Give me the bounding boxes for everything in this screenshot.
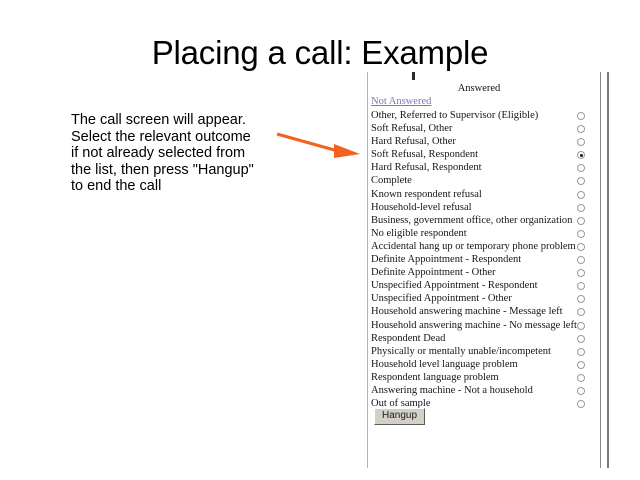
outcome-radio-button[interactable] [577, 204, 585, 212]
window-top-tick [412, 72, 415, 80]
outcome-radio-button[interactable] [577, 282, 585, 290]
outcome-radio-button[interactable] [577, 112, 585, 120]
call-outcome-screen: Answered Not Answered Other, Referred to… [367, 72, 601, 468]
outcome-row[interactable]: Unspecified Appointment - Other [368, 292, 600, 305]
outcome-row[interactable]: Business, government office, other organ… [368, 214, 600, 227]
outcome-radio-button[interactable] [577, 243, 585, 251]
outcome-label: Definite Appointment - Respondent [371, 253, 521, 266]
outcome-radio-button[interactable] [577, 374, 585, 382]
caption-line: the list, then press "Hangup" [71, 162, 281, 179]
outcome-row[interactable]: Definite Appointment - Respondent [368, 253, 600, 266]
outcome-label: Complete [371, 174, 412, 187]
outcome-row[interactable]: Household answering machine - Message le… [368, 305, 600, 318]
outcome-row[interactable]: No eligible respondent [368, 227, 600, 240]
outcome-label: Hard Refusal, Respondent [371, 161, 482, 174]
outcome-radio-button[interactable] [577, 295, 585, 303]
window-edge-divider [607, 72, 609, 468]
outcome-radio-button[interactable] [577, 230, 585, 238]
outcome-label: No eligible respondent [371, 227, 467, 240]
outcome-row[interactable]: Definite Appointment - Other [368, 266, 600, 279]
outcome-label: Respondent language problem [371, 371, 499, 384]
outcome-label: Definite Appointment - Other [371, 266, 496, 279]
page-title: Placing a call: Example [0, 36, 640, 71]
outcome-label: Answering machine - Not a household [371, 384, 533, 397]
outcome-radio-button[interactable] [577, 387, 585, 395]
outcome-label: Unspecified Appointment - Other [371, 292, 512, 305]
caption-line: The call screen will appear. [71, 112, 281, 129]
answered-section-heading: Answered [368, 83, 590, 94]
outcome-label: Household answering machine - Message le… [371, 305, 563, 318]
outcome-radio-button[interactable] [577, 308, 585, 316]
outcome-label: Accidental hang up or temporary phone pr… [371, 240, 576, 253]
caption-line: Select the relevant outcome [71, 129, 281, 146]
caption-line: to end the call [71, 178, 281, 195]
outcome-row[interactable]: Soft Refusal, Other [368, 122, 600, 135]
outcome-label: Household level language problem [371, 358, 518, 371]
outcome-row[interactable]: Household answering machine - No message… [368, 319, 600, 332]
outcome-radio-button[interactable] [577, 256, 585, 264]
outcome-row[interactable]: Hard Refusal, Respondent [368, 161, 600, 174]
outcome-row[interactable]: Answering machine - Not a household [368, 384, 600, 397]
outcome-label: Household answering machine - No message… [371, 319, 577, 332]
outcome-row[interactable]: Accidental hang up or temporary phone pr… [368, 240, 600, 253]
outcome-radio-button[interactable] [577, 400, 585, 408]
outcome-label: Business, government office, other organ… [371, 214, 572, 227]
outcome-row[interactable]: Household-level refusal [368, 201, 600, 214]
outcome-row[interactable]: Physically or mentally unable/incompeten… [368, 345, 600, 358]
outcome-radio-button[interactable] [577, 269, 585, 277]
outcome-row[interactable]: Other, Referred to Supervisor (Eligible) [368, 109, 600, 122]
outcome-radio-list[interactable]: Other, Referred to Supervisor (Eligible)… [368, 109, 600, 410]
outcome-row[interactable]: Complete [368, 174, 600, 187]
outcome-radio-button[interactable] [577, 151, 585, 159]
outcome-label: Soft Refusal, Other [371, 122, 452, 135]
outcome-radio-button[interactable] [577, 164, 585, 172]
pointer-arrow-icon [270, 124, 366, 164]
outcome-radio-button[interactable] [577, 125, 585, 133]
outcome-radio-button[interactable] [577, 348, 585, 356]
outcome-label: Household-level refusal [371, 201, 472, 214]
outcome-radio-button[interactable] [577, 217, 585, 225]
outcome-row[interactable]: Known respondent refusal [368, 188, 600, 201]
outcome-row[interactable]: Respondent Dead [368, 332, 600, 345]
outcome-radio-button[interactable] [577, 335, 585, 343]
not-answered-link[interactable]: Not Answered [371, 96, 431, 107]
outcome-row[interactable]: Soft Refusal, Respondent [368, 148, 600, 161]
outcome-row[interactable]: Hard Refusal, Other [368, 135, 600, 148]
outcome-label: Known respondent refusal [371, 188, 482, 201]
outcome-radio-button[interactable] [577, 138, 585, 146]
outcome-row[interactable]: Unspecified Appointment - Respondent [368, 279, 600, 292]
hangup-button[interactable]: Hangup [374, 408, 425, 425]
instruction-caption: The call screen will appear. Select the … [71, 112, 281, 195]
outcome-row[interactable]: Respondent language problem [368, 371, 600, 384]
outcome-radio-button[interactable] [577, 177, 585, 185]
outcome-label: Physically or mentally unable/incompeten… [371, 345, 551, 358]
caption-line: if not already selected from [71, 145, 281, 162]
outcome-label: Hard Refusal, Other [371, 135, 456, 148]
outcome-label: Respondent Dead [371, 332, 445, 345]
outcome-row[interactable]: Household level language problem [368, 358, 600, 371]
outcome-radio-button[interactable] [577, 361, 585, 369]
outcome-label: Soft Refusal, Respondent [371, 148, 478, 161]
outcome-label: Unspecified Appointment - Respondent [371, 279, 538, 292]
outcome-radio-button[interactable] [577, 322, 585, 330]
outcome-label: Other, Referred to Supervisor (Eligible) [371, 109, 538, 122]
outcome-radio-button[interactable] [577, 191, 585, 199]
